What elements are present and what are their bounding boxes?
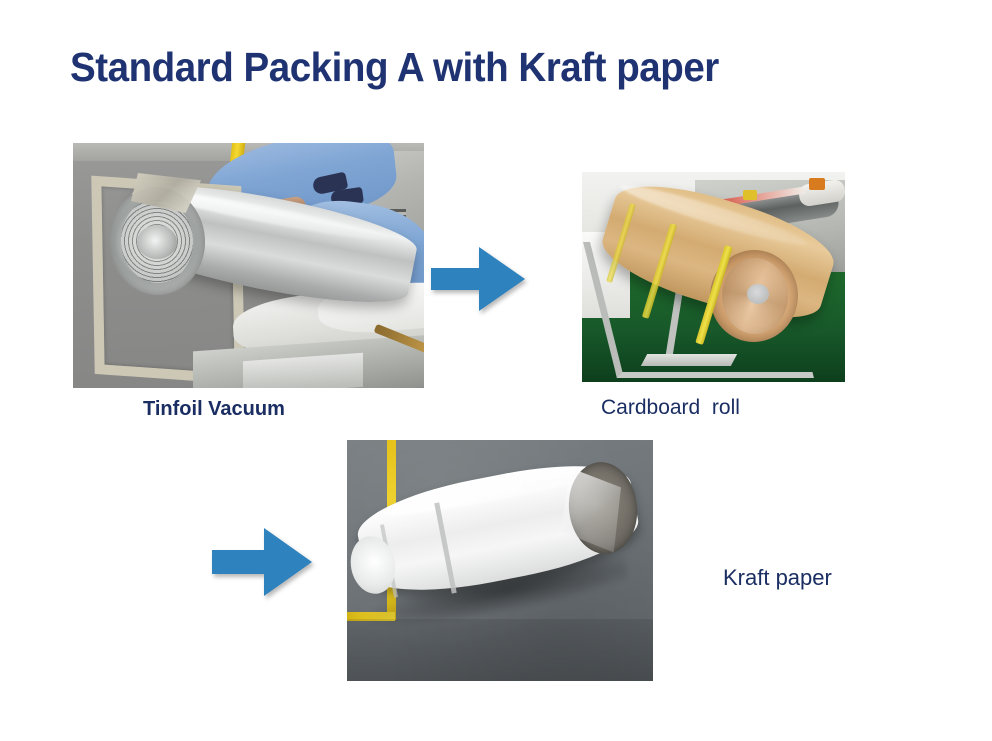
arrow-right-icon: [431, 243, 525, 315]
cardboard-roll-end-plug: [747, 284, 769, 304]
arrow-right-icon: [212, 524, 312, 600]
photo-kraft-scene: [347, 440, 653, 681]
slide-canvas: Standard Packing A with Kraft paper: [0, 0, 992, 741]
caption-cardboard-roll: Cardboard roll: [601, 396, 740, 420]
orange-component: [809, 178, 825, 190]
page-title: Standard Packing A with Kraft paper: [70, 44, 719, 91]
caption-tinfoil-vacuum: Tinfoil Vacuum: [143, 398, 285, 421]
photo-tinfoil-vacuum: [73, 143, 424, 388]
metal-stand-base: [641, 354, 737, 366]
photo-kraft-paper-roll: [347, 440, 653, 681]
photo-tinfoil-scene: [73, 143, 424, 388]
yellow-component: [743, 190, 757, 200]
caption-kraft-paper: Kraft paper: [723, 565, 832, 591]
photo-cardboard-roll: [582, 172, 845, 382]
photo-cardboard-scene: [582, 172, 845, 382]
tinfoil-roll-core: [137, 225, 177, 259]
